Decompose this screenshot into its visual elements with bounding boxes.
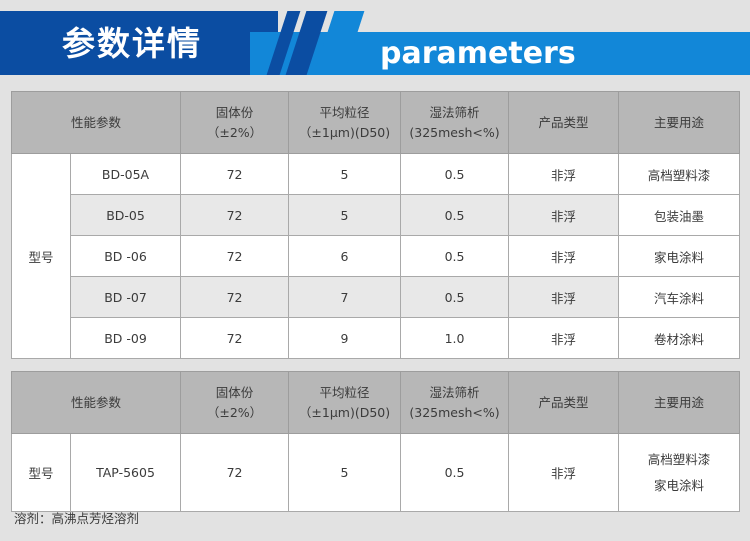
header-solid-line2: （±2%） (184, 403, 285, 422)
cell-model: BD -09 (71, 318, 181, 359)
cell-use: 高档塑料漆 家电涂料 (619, 434, 740, 512)
cell-solid: 72 (181, 277, 289, 318)
header-cell-sieve: 湿法筛析 (325mesh<%) (401, 372, 509, 434)
parameters-table-secondary: 性能参数 固体份 （±2%） 平均粒径 （±1μm)(D50) 湿法筛析 (32… (11, 371, 740, 512)
cell-size: 5 (289, 154, 401, 195)
header-cell-type: 产品类型 (509, 92, 619, 154)
cell-type: 非浮 (509, 236, 619, 277)
parameters-table-primary: 性能参数 固体份 （±2%） 平均粒径 （±1μm)(D50) 湿法筛析 (32… (11, 91, 740, 359)
header-sieve-line1: 湿法筛析 (404, 383, 505, 402)
page-banner: 参数详情 parameters (0, 0, 750, 88)
table-row: BD -07 72 7 0.5 非浮 汽车涂料 (12, 277, 740, 318)
cell-model: BD-05A (71, 154, 181, 195)
header-solid-line1: 固体份 (184, 383, 285, 402)
header-cell-use: 主要用途 (619, 372, 740, 434)
cell-use-line1: 高档塑料漆 (622, 447, 736, 473)
header-cell-solid: 固体份 （±2%） (181, 372, 289, 434)
cell-solid: 72 (181, 195, 289, 236)
cell-type: 非浮 (509, 154, 619, 195)
header-solid-line2: （±2%） (184, 123, 285, 142)
header-cell-perf: 性能参数 (12, 372, 181, 434)
header-sieve-line1: 湿法筛析 (404, 103, 505, 122)
header-size-line2: （±1μm)(D50) (292, 123, 397, 142)
cell-solid: 72 (181, 236, 289, 277)
cell-sieve: 0.5 (401, 195, 509, 236)
cell-type: 非浮 (509, 195, 619, 236)
header-size-line1: 平均粒径 (292, 103, 397, 122)
table-row: 型号 TAP-5605 72 5 0.5 非浮 高档塑料漆 家电涂料 (12, 434, 740, 512)
cell-solid: 72 (181, 154, 289, 195)
model-group-label: 型号 (12, 434, 71, 512)
header-solid-line1: 固体份 (184, 103, 285, 122)
cell-sieve: 0.5 (401, 236, 509, 277)
table-row: BD -09 72 9 1.0 非浮 卷材涂料 (12, 318, 740, 359)
cell-solid: 72 (181, 434, 289, 512)
solvent-footnote: 溶剂：高沸点芳烃溶剂 (14, 508, 139, 527)
table-row: 型号 BD-05A 72 5 0.5 非浮 高档塑料漆 (12, 154, 740, 195)
table-header-row: 性能参数 固体份 （±2%） 平均粒径 （±1μm)(D50) 湿法筛析 (32… (12, 92, 740, 154)
model-group-label: 型号 (12, 154, 71, 359)
cell-sieve: 0.5 (401, 277, 509, 318)
cell-use: 汽车涂料 (619, 277, 740, 318)
banner-title-en: parameters (380, 32, 720, 75)
header-size-line2: （±1μm)(D50) (292, 403, 397, 422)
cell-model: BD -06 (71, 236, 181, 277)
cell-size: 7 (289, 277, 401, 318)
banner-title-cn: 参数详情 (62, 11, 262, 75)
cell-use-line2: 家电涂料 (622, 473, 736, 499)
cell-type: 非浮 (509, 318, 619, 359)
cell-model: BD -07 (71, 277, 181, 318)
header-cell-type: 产品类型 (509, 372, 619, 434)
header-sieve-line2: (325mesh<%) (404, 123, 505, 142)
cell-solid: 72 (181, 318, 289, 359)
cell-model: TAP-5605 (71, 434, 181, 512)
cell-type: 非浮 (509, 277, 619, 318)
cell-use: 高档塑料漆 (619, 154, 740, 195)
cell-sieve: 0.5 (401, 434, 509, 512)
header-cell-use: 主要用途 (619, 92, 740, 154)
header-cell-perf: 性能参数 (12, 92, 181, 154)
cell-use: 家电涂料 (619, 236, 740, 277)
cell-use: 包装油墨 (619, 195, 740, 236)
table-header-row: 性能参数 固体份 （±2%） 平均粒径 （±1μm)(D50) 湿法筛析 (32… (12, 372, 740, 434)
header-cell-size: 平均粒径 （±1μm)(D50) (289, 92, 401, 154)
table-row: BD -06 72 6 0.5 非浮 家电涂料 (12, 236, 740, 277)
cell-size: 5 (289, 195, 401, 236)
header-size-line1: 平均粒径 (292, 383, 397, 402)
cell-sieve: 1.0 (401, 318, 509, 359)
cell-size: 5 (289, 434, 401, 512)
cell-type: 非浮 (509, 434, 619, 512)
cell-size: 9 (289, 318, 401, 359)
header-cell-size: 平均粒径 （±1μm)(D50) (289, 372, 401, 434)
header-sieve-line2: (325mesh<%) (404, 403, 505, 422)
cell-sieve: 0.5 (401, 154, 509, 195)
cell-size: 6 (289, 236, 401, 277)
header-cell-sieve: 湿法筛析 (325mesh<%) (401, 92, 509, 154)
cell-model: BD-05 (71, 195, 181, 236)
cell-use: 卷材涂料 (619, 318, 740, 359)
table-row: BD-05 72 5 0.5 非浮 包装油墨 (12, 195, 740, 236)
header-cell-solid: 固体份 （±2%） (181, 92, 289, 154)
